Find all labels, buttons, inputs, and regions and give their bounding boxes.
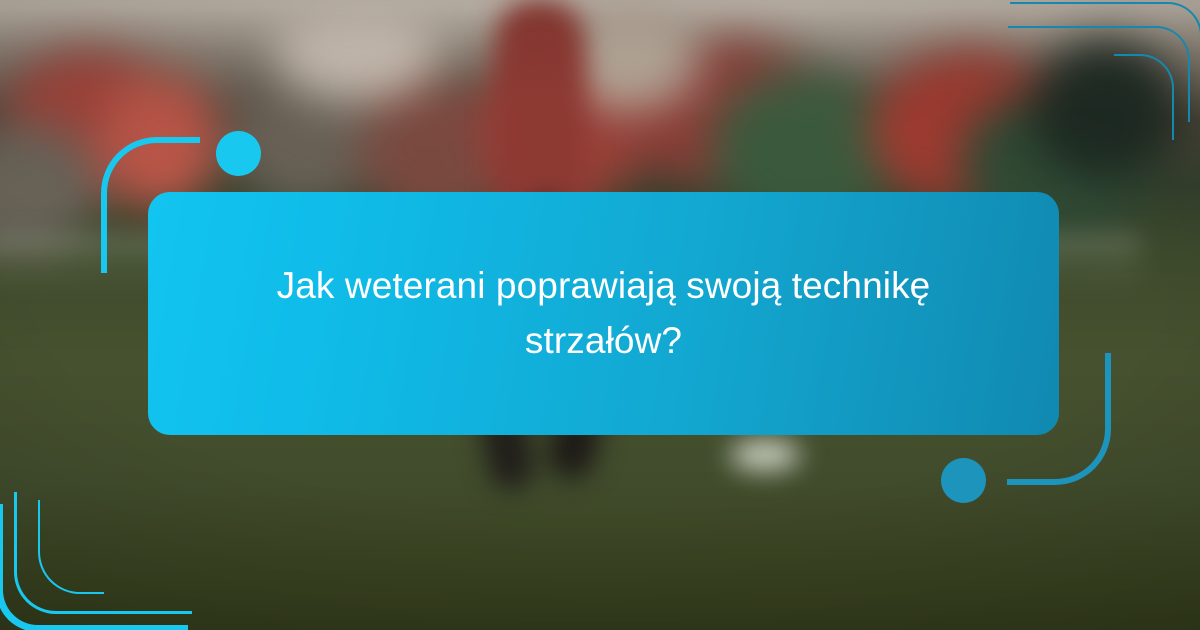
headline-card: Jak weterani poprawiają swoją technikę s… xyxy=(148,192,1059,435)
share-card-canvas: Jak weterani poprawiają swoją technikę s… xyxy=(0,0,1200,630)
page-title: Jak weterani poprawiają swoją technikę s… xyxy=(214,259,993,369)
bottom-left-corner-line-3 xyxy=(38,500,104,594)
top-right-corner-line-3 xyxy=(1114,54,1174,140)
top-left-dot-icon xyxy=(216,131,261,176)
bottom-right-dot-icon xyxy=(941,458,986,503)
